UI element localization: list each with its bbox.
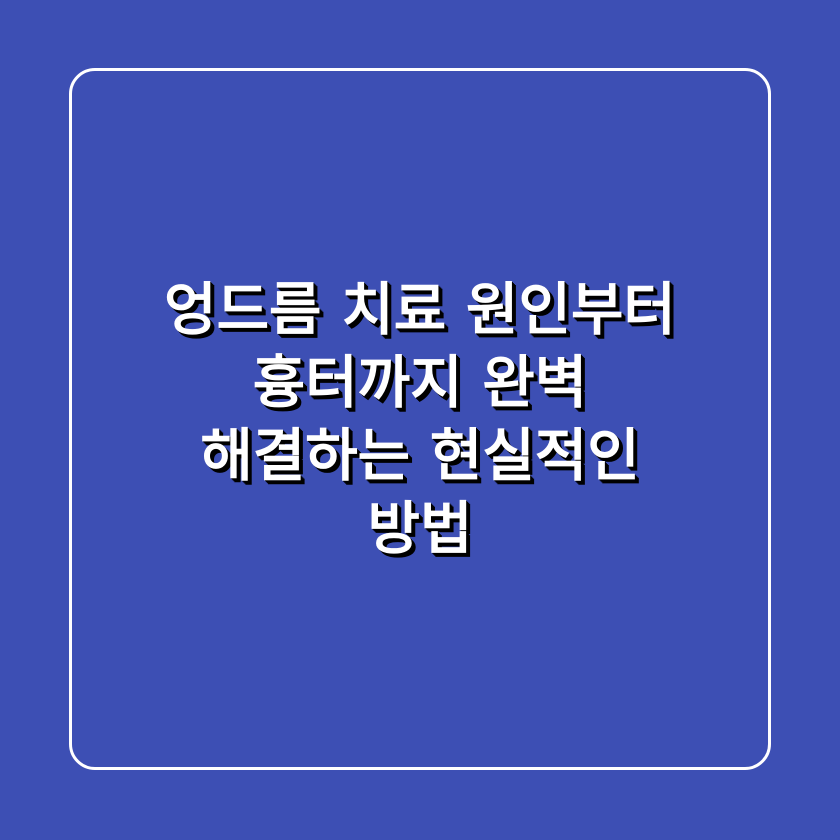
poster-canvas: 엉드름 치료 원인부터 흉터까지 완벽 해결하는 현실적인 방법 <box>0 0 840 840</box>
title-line-2: 흉터까지 완벽 <box>253 347 587 420</box>
title-line-3: 해결하는 현실적인 <box>200 420 639 493</box>
poster-title-block: 엉드름 치료 원인부터 흉터까지 완벽 해결하는 현실적인 방법 <box>0 0 840 840</box>
title-line-4: 방법 <box>368 493 473 566</box>
title-line-1: 엉드름 치료 원인부터 <box>164 274 676 347</box>
